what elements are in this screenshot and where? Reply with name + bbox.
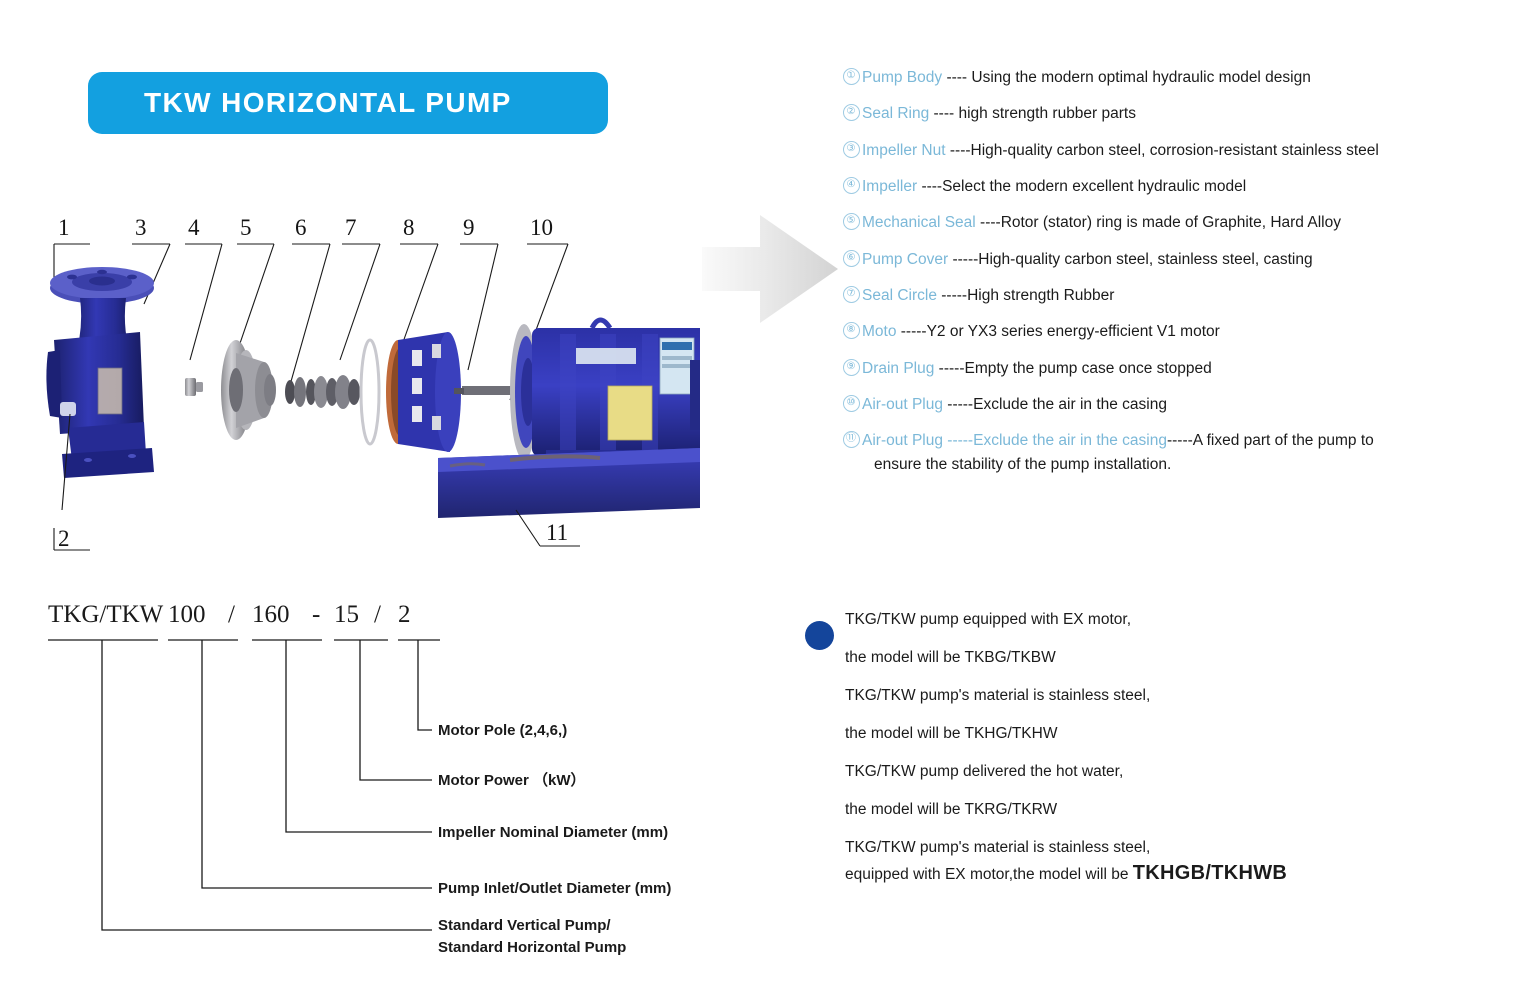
legend-number-icon-10: ⑩	[840, 395, 862, 412]
legend-item-2: ② Seal Ring ---- high strength rubber pa…	[840, 104, 1500, 124]
model-code-segment-4: 2	[398, 601, 411, 628]
legend-text-1: Pump Body ---- Using the modern optimal …	[862, 68, 1311, 88]
legend-item-1: ① Pump Body ---- Using the modern optima…	[840, 68, 1500, 88]
note-line-2: the model will be TKBG/TKBW	[845, 650, 1420, 666]
page-title: TKW HORIZONTAL PUMP	[144, 87, 512, 119]
legend-text-2: Seal Ring ---- high strength rubber part…	[862, 104, 1136, 124]
model-code-segment-1: 100	[168, 601, 206, 628]
pump-cover-part	[386, 332, 461, 452]
pump-body-part	[46, 267, 154, 478]
impeller-nut-part	[185, 378, 203, 396]
legend-number-icon-4: ④	[840, 177, 862, 194]
model-code-separator-3: -	[312, 601, 320, 628]
legend-number-icon-9: ⑨	[840, 359, 862, 376]
callout-number-10: 10	[530, 215, 553, 240]
legend-text-4: Impeller ----Select the modern excellent…	[862, 177, 1246, 197]
motor-part	[454, 320, 700, 470]
model-label-standard-pump-line1: Standard Vertical Pump/	[438, 917, 611, 934]
callout-number-7: 7	[345, 215, 357, 240]
page-title-banner: TKW HORIZONTAL PUMP	[88, 72, 608, 134]
model-code-separator-2: /	[374, 601, 381, 628]
model-label-motor-pole: Motor Pole (2,4,6,)	[438, 722, 567, 739]
callout-number-5: 5	[240, 215, 252, 240]
legend-text-3: Impeller Nut ----High-quality carbon ste…	[862, 141, 1379, 161]
legend-item-11: ⑪ Air-out Plug -----Exclude the air in t…	[840, 431, 1500, 451]
flow-arrow-icon	[700, 213, 840, 325]
legend-number-icon-11: ⑪	[840, 431, 862, 448]
legend-text-11-continued: ensure the stability of the pump install…	[840, 456, 1500, 474]
note-line-3: TKG/TKW pump's material is stainless ste…	[845, 688, 1420, 704]
callout-number-9: 9	[463, 215, 475, 240]
note-line-1: TKG/TKW pump equipped with EX motor,	[845, 612, 1420, 628]
legend-number-icon-1: ①	[840, 68, 862, 85]
legend-item-9: ⑨ Drain Plug -----Empty the pump case on…	[840, 359, 1500, 379]
legend-text-5: Mechanical Seal ----Rotor (stator) ring …	[862, 213, 1341, 233]
legend-item-8: ⑧ Moto -----Y2 or YX3 series energy-effi…	[840, 322, 1500, 342]
base-plate-part	[438, 448, 700, 518]
parts-legend-list: ① Pump Body ---- Using the modern optima…	[840, 68, 1500, 490]
legend-text-10: Air-out Plug -----Exclude the air in the…	[862, 395, 1167, 415]
legend-item-7: ⑦ Seal Circle -----High strength Rubber	[840, 286, 1500, 306]
legend-item-4: ④ Impeller ----Select the modern excelle…	[840, 177, 1500, 197]
legend-item-3: ③ Impeller Nut ----High-quality carbon s…	[840, 141, 1500, 161]
bullet-point-icon	[805, 621, 834, 650]
legend-text-9: Drain Plug -----Empty the pump case once…	[862, 359, 1212, 379]
legend-number-icon-5: ⑤	[840, 213, 862, 230]
callout-number-6: 6	[295, 215, 307, 240]
callout-number-4: 4	[188, 215, 200, 240]
seal-circle-part	[361, 340, 379, 444]
note-line-5: TKG/TKW pump delivered the hot water,	[845, 764, 1420, 780]
model-code-segment-0: TKG/TKW	[48, 601, 164, 628]
model-variant-notes: TKG/TKW pump equipped with EX motor, the…	[800, 612, 1420, 905]
note-last-prefix: equipped with EX motor,the model will be	[845, 866, 1133, 883]
callout-number-1: 1	[58, 215, 70, 240]
page-root: TKW HORIZONTAL PUMP	[0, 0, 1513, 1000]
exploded-pump-diagram: 1 3 4 5 6 7 8 9 10	[40, 210, 700, 570]
legend-number-icon-7: ⑦	[840, 286, 862, 303]
legend-number-icon-2: ②	[840, 104, 862, 121]
model-code-breakdown: TKG/TKW 100 / 160 - 15 / 2	[40, 590, 740, 970]
legend-item-10: ⑩ Air-out Plug -----Exclude the air in t…	[840, 395, 1500, 415]
legend-item-6: ⑥ Pump Cover -----High-quality carbon st…	[840, 250, 1500, 270]
legend-text-7: Seal Circle -----High strength Rubber	[862, 286, 1114, 306]
note-last-model: TKHGB/TKHWB	[1133, 862, 1287, 884]
legend-number-icon-3: ③	[840, 141, 862, 158]
callout-number-3: 3	[135, 215, 147, 240]
model-code-segment-2: 160	[252, 601, 290, 628]
legend-item-5: ⑤ Mechanical Seal ----Rotor (stator) rin…	[840, 213, 1500, 233]
legend-text-11: Air-out Plug -----Exclude the air in the…	[862, 431, 1374, 451]
model-label-inlet-outlet-diameter: Pump Inlet/Outlet Diameter (mm)	[438, 880, 671, 897]
callout-number-11: 11	[546, 520, 568, 545]
model-code-segment-3: 15	[334, 601, 359, 628]
legend-text-6: Pump Cover -----High-quality carbon stee…	[862, 250, 1313, 270]
callout-number-8: 8	[403, 215, 415, 240]
note-line-7: TKG/TKW pump's material is stainless ste…	[845, 840, 1420, 856]
note-line-8: equipped with EX motor,the model will be…	[845, 863, 1420, 883]
note-line-6: the model will be TKRG/TKRW	[845, 802, 1420, 818]
legend-number-icon-6: ⑥	[840, 250, 862, 267]
model-label-standard-pump-line2: Standard Horizontal Pump	[438, 939, 626, 956]
model-code-separator-1: /	[228, 601, 235, 628]
note-line-4: the model will be TKHG/TKHW	[845, 726, 1420, 742]
mechanical-seal-stack	[285, 375, 360, 409]
impeller-part	[221, 340, 276, 440]
model-label-motor-power: Motor Power （kW）	[438, 771, 586, 789]
model-label-impeller-diameter: Impeller Nominal Diameter (mm)	[438, 824, 668, 841]
legend-text-8: Moto -----Y2 or YX3 series energy-effici…	[862, 322, 1220, 342]
legend-number-icon-8: ⑧	[840, 322, 862, 339]
callout-number-2: 2	[58, 526, 70, 551]
